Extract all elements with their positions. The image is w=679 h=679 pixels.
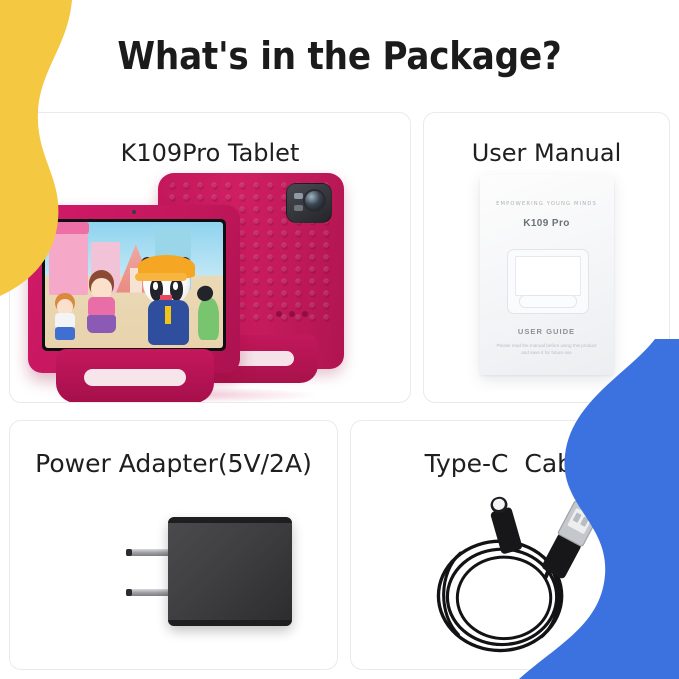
camera-flash-icon — [294, 193, 303, 199]
page-title: What's in the Package? — [0, 33, 679, 79]
adapter-prong-bottom — [126, 589, 170, 596]
scene-panda-character — [138, 255, 209, 346]
card-adapter: Power Adapter(5V/2A) — [9, 420, 338, 670]
card-adapter-title: Power Adapter(5V/2A) — [10, 449, 337, 478]
cable-illustration — [351, 481, 669, 666]
adapter-illustration — [10, 495, 337, 665]
booklet-model: K109 Pro — [480, 218, 614, 229]
tablet-illustration — [10, 167, 410, 399]
front-camera-icon — [132, 210, 136, 214]
user-guide-booklet: EMPOWERING YOUNG MINDS K109 Pro USER GUI… — [480, 175, 614, 375]
usb-cable-drawing — [351, 481, 669, 666]
adapter-prong-top — [126, 549, 170, 556]
camera-sensor-icon — [294, 205, 303, 211]
camera-lens-icon — [305, 191, 324, 210]
scene-building-pink — [49, 230, 88, 296]
card-tablet-title: K109Pro Tablet — [10, 139, 410, 167]
tablet-front-handle — [56, 349, 214, 403]
rear-camera-module — [286, 183, 332, 223]
tablet-front-view — [28, 205, 240, 373]
tablet-screen — [42, 219, 226, 351]
card-manual: User Manual EMPOWERING YOUNG MINDS K109 … — [423, 112, 670, 403]
package-contents-grid: K109Pro Tablet — [9, 112, 670, 670]
infographic-page: What's in the Package? K109Pro Tablet — [0, 0, 679, 679]
usb-a-connector — [540, 500, 600, 580]
booklet-kicker: EMPOWERING YOUNG MINDS — [480, 201, 614, 207]
adapter-body — [168, 517, 292, 626]
card-manual-title: User Manual — [424, 139, 669, 167]
scene-child-small — [52, 293, 79, 343]
speaker-dots — [276, 311, 310, 317]
card-tablet: K109Pro Tablet — [9, 112, 411, 403]
screen-cartoon-scene — [45, 222, 223, 348]
booklet-guide-label: USER GUIDE — [480, 327, 614, 336]
card-cable: Type-C Cable — [350, 420, 670, 670]
card-cable-title: Type-C Cable — [351, 449, 669, 478]
booklet-fine-print: Please read the manual before using this… — [494, 342, 600, 356]
booklet-tablet-drawing — [507, 249, 589, 314]
usb-c-connector — [486, 494, 523, 554]
manual-illustration: EMPOWERING YOUNG MINDS K109 Pro USER GUI… — [424, 175, 669, 395]
scene-child-girl — [84, 270, 120, 341]
